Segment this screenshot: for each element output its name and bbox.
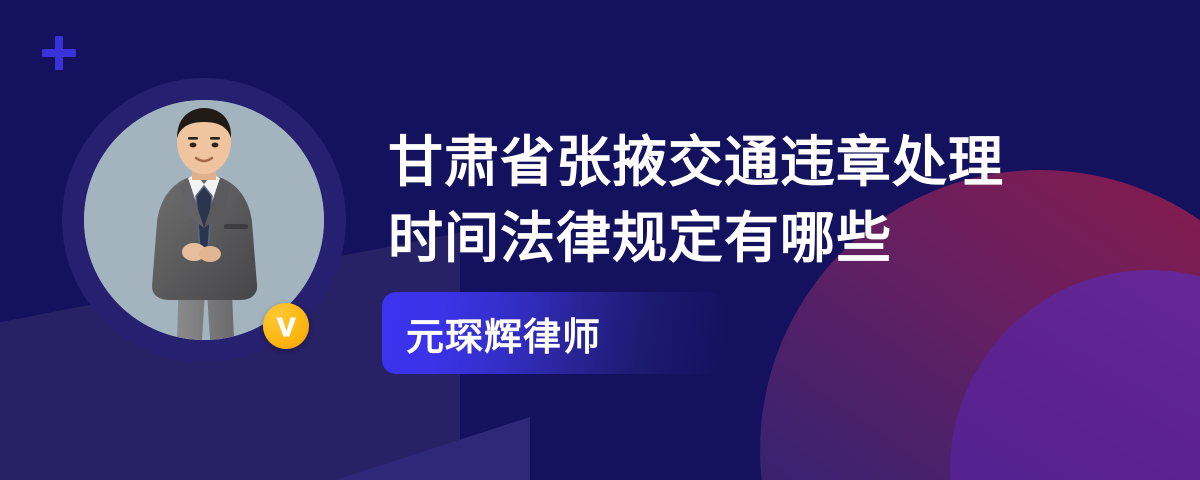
plus-icon [42, 36, 76, 70]
avatar [62, 78, 346, 362]
banner-content: 甘肃省张掖交通违章处理 时间法律规定有哪些 元琛辉律师 [388, 124, 1088, 374]
author-name: 元琛辉律师 [382, 306, 601, 361]
headline-line-1: 甘肃省张掖交通违章处理 [388, 124, 1088, 200]
author-badge[interactable]: 元琛辉律师 [382, 292, 722, 374]
page-title: 甘肃省张掖交通违章处理 时间法律规定有哪些 [388, 124, 1088, 276]
headline-line-2: 时间法律规定有哪些 [388, 200, 1088, 276]
verified-v-icon [263, 303, 309, 349]
lawyer-article-banner: 甘肃省张掖交通违章处理 时间法律规定有哪些 元琛辉律师 [0, 0, 1200, 480]
